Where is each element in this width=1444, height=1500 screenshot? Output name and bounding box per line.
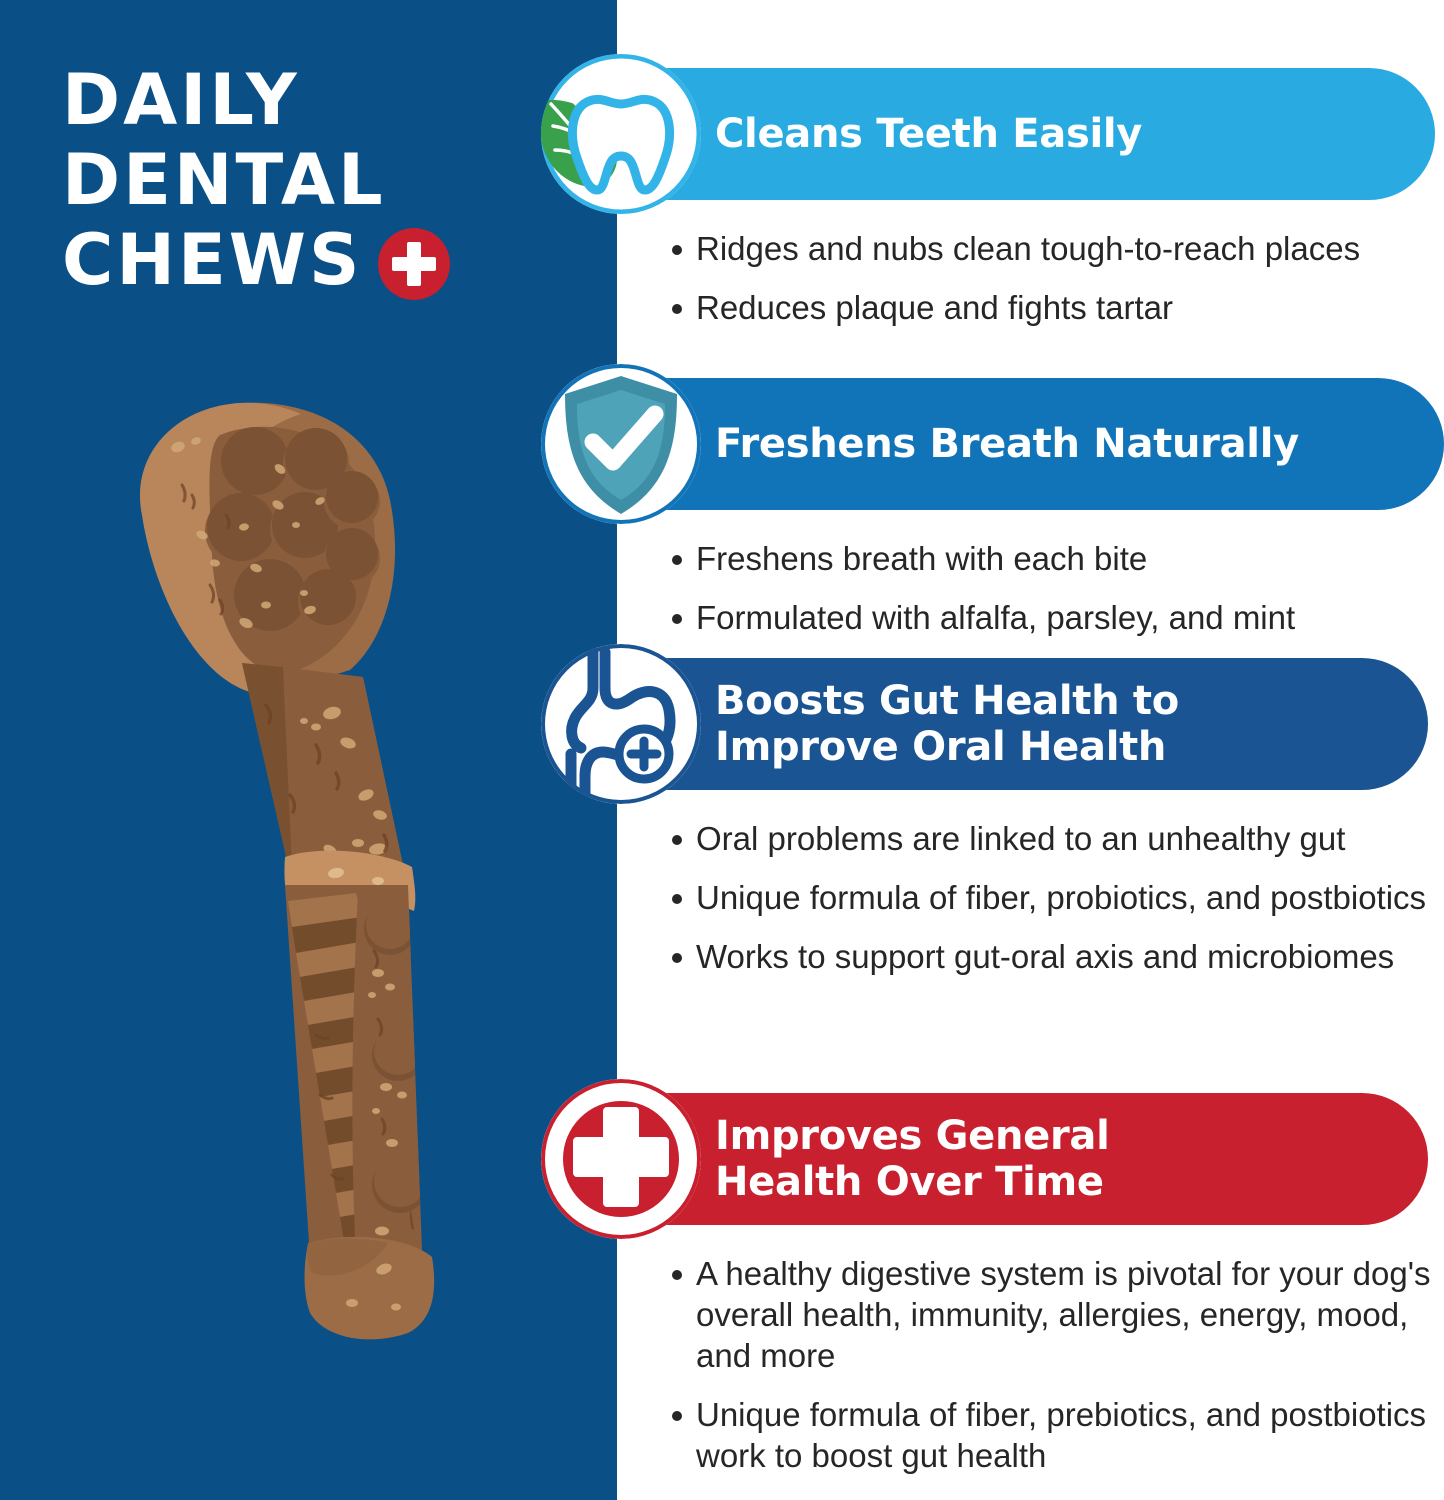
feature-title: Cleans Teeth Easily bbox=[715, 111, 1142, 157]
bullet-dot bbox=[672, 1270, 682, 1280]
bullet-dot bbox=[672, 614, 682, 624]
logo-line-chews-row: Chews bbox=[62, 220, 482, 300]
chew-head-group bbox=[140, 403, 395, 695]
feature-bullet-list: Ridges and nubs clean tough-to-reach pla… bbox=[672, 228, 1440, 346]
bullet-dot bbox=[672, 894, 682, 904]
feature-bullet-list: Oral problems are linked to an unhealthy… bbox=[672, 818, 1440, 995]
feature-bullet-list: A healthy digestive system is pivotal fo… bbox=[672, 1253, 1440, 1494]
chew-ridged-body bbox=[270, 875, 440, 1275]
feature-title: Improves General Health Over Time bbox=[715, 1113, 1110, 1205]
feature-banner-improves-general-health: Improves General Health Over Time bbox=[597, 1093, 1428, 1225]
feature-title-line-1: Improves General bbox=[715, 1113, 1110, 1159]
stomach-plus-icon bbox=[541, 644, 701, 804]
feature-title: Freshens Breath Naturally bbox=[715, 421, 1299, 467]
tooth-mint-icon bbox=[541, 54, 701, 214]
feature-banner-freshens-breath: Freshens Breath Naturally bbox=[597, 378, 1444, 510]
brand-logo: Daily Dental Chews bbox=[62, 60, 482, 300]
bullet-dot bbox=[672, 835, 682, 845]
bullet-dot bbox=[672, 555, 682, 565]
chew-bottom-cap bbox=[305, 1237, 435, 1340]
bullet-dot bbox=[672, 953, 682, 963]
list-item: Unique formula of fiber, prebiotics, and… bbox=[672, 1394, 1440, 1476]
product-infographic: Daily Dental Chews bbox=[0, 0, 1444, 1500]
feature-title-line-1: Boosts Gut Health to bbox=[715, 678, 1179, 724]
list-item: Works to support gut-oral axis and micro… bbox=[672, 936, 1440, 977]
bullet-dot bbox=[672, 245, 682, 255]
list-item: Reduces plaque and fights tartar bbox=[672, 287, 1440, 328]
logo-line-daily: Daily bbox=[62, 60, 482, 140]
logo-line-dental: Dental bbox=[62, 140, 482, 220]
bullet-dot bbox=[672, 1411, 682, 1421]
logo-line-chews: Chews bbox=[62, 220, 362, 300]
bullet-dot bbox=[672, 304, 682, 314]
feature-title-line-2: Health Over Time bbox=[715, 1159, 1110, 1205]
chew-shaft-group bbox=[242, 663, 403, 865]
feature-banner-boosts-gut-health: Boosts Gut Health to Improve Oral Health bbox=[597, 658, 1428, 790]
list-item: Unique formula of fiber, probiotics, and… bbox=[672, 877, 1440, 918]
dental-chew-stick-illustration bbox=[120, 395, 540, 1355]
medical-cross-icon bbox=[378, 228, 450, 300]
list-item: Ridges and nubs clean tough-to-reach pla… bbox=[672, 228, 1440, 269]
list-item: Oral problems are linked to an unhealthy… bbox=[672, 818, 1440, 859]
list-item: Freshens breath with each bite bbox=[672, 538, 1440, 579]
shield-check-icon bbox=[541, 364, 701, 524]
list-item: A healthy digestive system is pivotal fo… bbox=[672, 1253, 1440, 1376]
feature-banner-cleans-teeth: Cleans Teeth Easily bbox=[597, 68, 1435, 200]
feature-title: Boosts Gut Health to Improve Oral Health bbox=[715, 678, 1179, 770]
medical-cross-circle-icon bbox=[541, 1079, 701, 1239]
list-item: Formulated with alfalfa, parsley, and mi… bbox=[672, 597, 1440, 638]
feature-title-line-2: Improve Oral Health bbox=[715, 724, 1179, 770]
feature-bullet-list: Freshens breath with each bite Formulate… bbox=[672, 538, 1440, 656]
